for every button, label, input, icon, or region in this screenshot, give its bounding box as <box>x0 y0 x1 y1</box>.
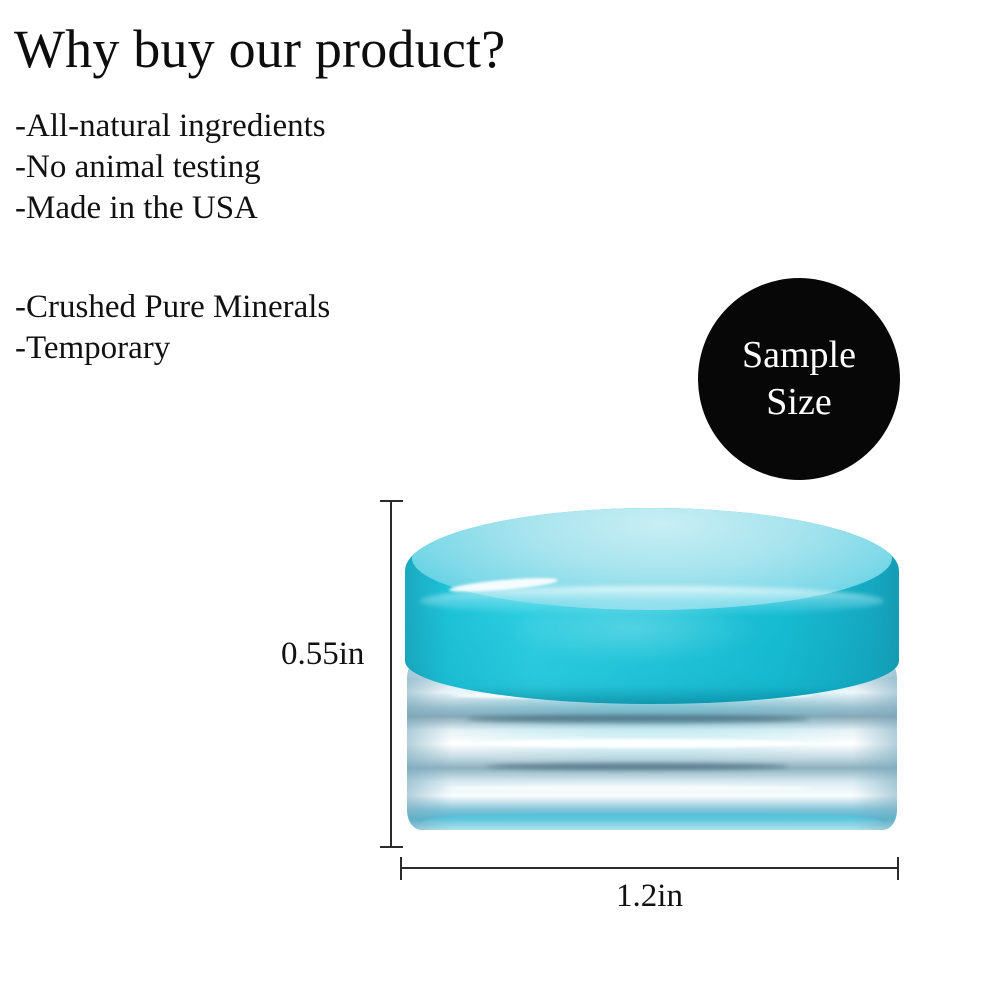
product-infographic: Why buy our product? -All-natural ingred… <box>0 0 1000 1000</box>
jar-lid-sheen <box>504 604 761 664</box>
width-dimension-line <box>400 867 899 869</box>
height-dimension-cap-bottom-icon <box>380 846 403 848</box>
benefits-primary-list: -All-natural ingredients -No animal test… <box>15 106 326 229</box>
height-dimension-label: 0.55in <box>281 634 364 674</box>
page-title: Why buy our product? <box>14 18 505 80</box>
benefit-item: -All-natural ingredients <box>15 106 326 147</box>
benefit-item: -Made in the USA <box>15 188 326 229</box>
sample-size-badge: Sample Size <box>698 278 900 480</box>
benefits-secondary-list: -Crushed Pure Minerals -Temporary <box>15 287 330 369</box>
sample-size-badge-line-2: Size <box>766 379 831 426</box>
jar-teal-lid <box>405 508 899 704</box>
height-dimension-cap-top-icon <box>380 500 403 502</box>
benefit-item: -Temporary <box>15 328 330 369</box>
width-dimension-label: 1.2in <box>400 876 899 916</box>
benefit-item: -No animal testing <box>15 147 326 188</box>
sample-size-badge-line-1: Sample <box>742 332 856 379</box>
product-image-sample-jar <box>405 508 899 830</box>
height-dimension-line <box>390 500 392 848</box>
benefit-item: -Crushed Pure Minerals <box>15 287 330 328</box>
jar-lid-contact-shadow <box>415 686 889 704</box>
